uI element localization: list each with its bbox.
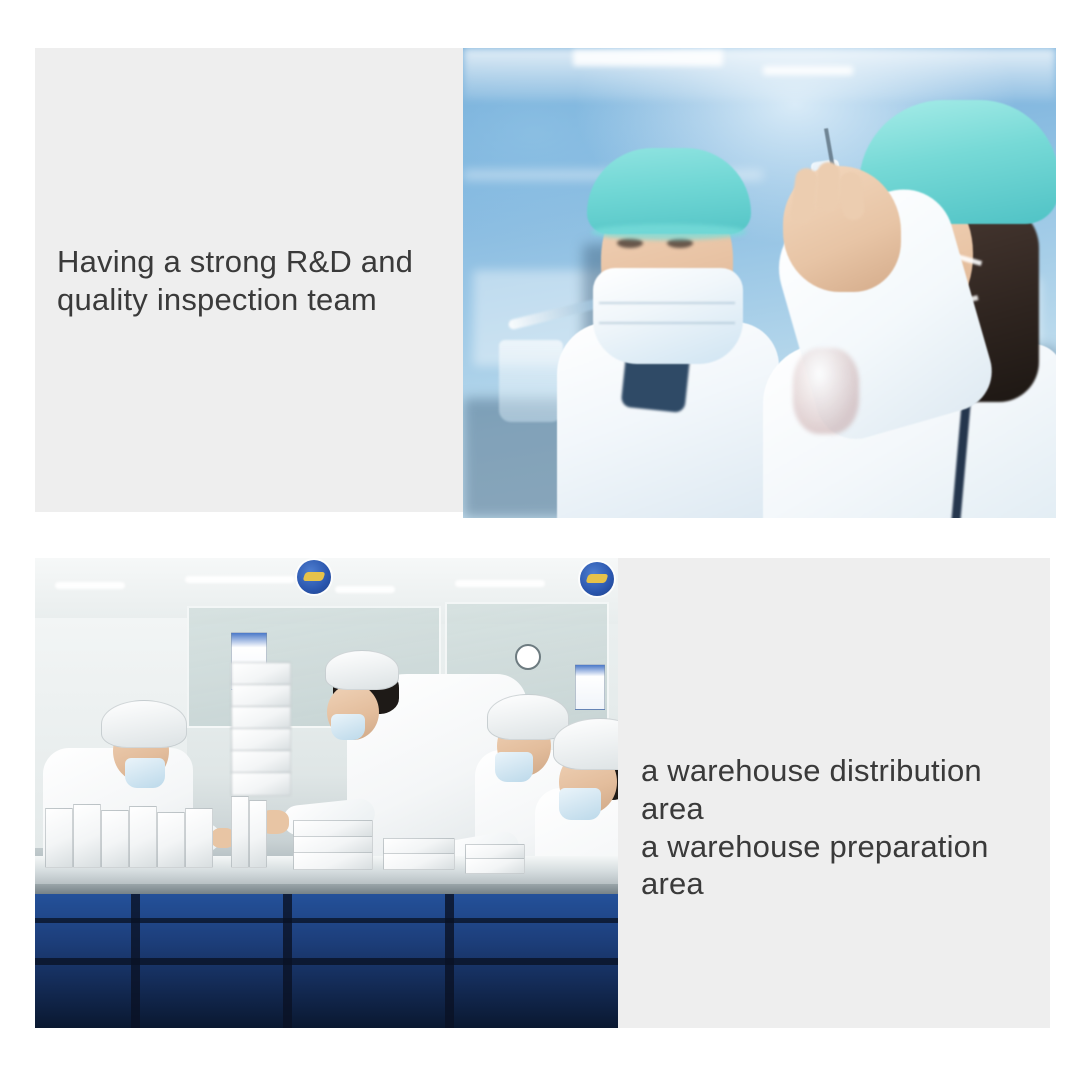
carton — [249, 800, 267, 868]
carton — [293, 852, 373, 870]
hairnet — [101, 700, 187, 748]
lab-scene — [463, 48, 1056, 518]
finger — [816, 162, 840, 213]
carton — [45, 808, 73, 868]
table-leg — [131, 894, 140, 1028]
caption-warehouse: a warehouse distribution area a warehous… — [641, 752, 1041, 903]
carton — [465, 858, 525, 874]
table-leg — [445, 894, 454, 1028]
lab-ceiling-light — [763, 66, 853, 75]
hairnet — [553, 718, 618, 770]
face-mask — [495, 752, 533, 782]
carton — [129, 806, 157, 868]
caption-rnd-quality: Having a strong R&D and quality inspecti… — [57, 243, 457, 319]
cleanroom-sign-icon — [297, 560, 331, 594]
carton — [185, 808, 213, 868]
ceiling-light — [55, 582, 125, 589]
held-flask — [793, 348, 859, 434]
carton — [231, 684, 291, 708]
carton — [383, 853, 455, 870]
warehouse-packing-photo — [35, 558, 618, 1028]
carton — [157, 812, 185, 868]
carton — [231, 772, 291, 796]
eye — [617, 238, 643, 248]
ceiling-light — [455, 580, 545, 587]
table-rail — [35, 958, 618, 965]
carton — [231, 662, 291, 686]
face-mask — [331, 714, 365, 740]
carton — [231, 706, 291, 730]
hairnet — [325, 650, 399, 690]
warehouse-scene — [35, 558, 618, 1028]
table-rail — [35, 918, 618, 923]
hairnet — [587, 148, 751, 234]
ceiling-light — [185, 576, 295, 583]
ceiling-light — [335, 586, 395, 593]
mask-fold — [599, 302, 735, 304]
collage-stage: Having a strong R&D and quality inspecti… — [0, 0, 1080, 1080]
carton — [231, 796, 249, 868]
table-leg — [283, 894, 292, 1028]
face-mask — [559, 788, 601, 820]
lab-technician-front — [551, 126, 781, 518]
lab-ceiling-light — [573, 50, 723, 66]
face-mask — [593, 268, 743, 364]
mask-fold — [599, 322, 735, 324]
carton — [231, 728, 291, 752]
carton — [73, 804, 101, 868]
lab-quality-inspection-photo — [463, 48, 1056, 518]
cleanroom-sign-icon — [580, 562, 614, 596]
carton — [231, 750, 291, 774]
face-mask — [125, 758, 165, 788]
carton — [101, 810, 129, 868]
